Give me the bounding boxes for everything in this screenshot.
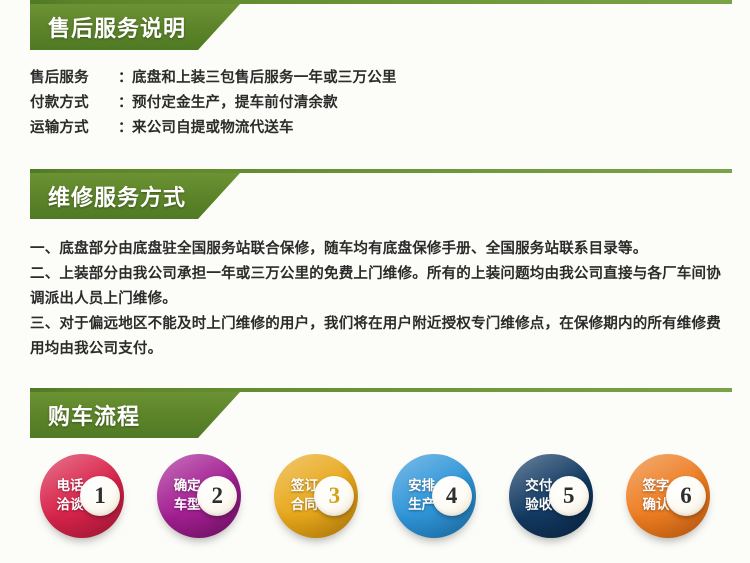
section-after-sales: 售后服务说明 售后服务 ： 底盘和上装三包售后服务一年或三万公里 付款方式 ： … [0,0,750,141]
section-repair-service: 维修服务方式 一、底盘部分由底盘驻全国服务站联合保修，随车均有底盘保修手册、全国… [0,169,750,362]
section-banner-2: 维修服务方式 [30,173,750,223]
info-row-separator: ： [118,116,132,141]
process-step-1[interactable]: 电话 洽谈 1 [40,454,124,538]
repair-service-body: 一、底盘部分由底盘驻全国服务站联合保修，随车均有底盘保修手册、全国服务站联系目录… [30,237,726,362]
section-title-1: 售后服务说明 [48,4,186,50]
repair-paragraph: 三、对于偏远地区不能及时上门维修的用户，我们将在用户附近授权专门维修点，在保修期… [30,312,726,362]
section-purchase-process: 购车流程 电话 洽谈 1 确定 车型 2 [0,388,750,538]
info-row-value: 底盘和上装三包售后服务一年或三万公里 [132,66,750,91]
process-step-3[interactable]: 签订 合同 3 [274,454,358,538]
section-title-2: 维修服务方式 [48,173,186,219]
info-row: 售后服务 ： 底盘和上装三包售后服务一年或三万公里 [30,66,750,91]
info-row-key: 付款方式 [30,91,118,116]
process-step-2[interactable]: 确定 车型 2 [157,454,241,538]
info-row-value: 来公司自提或物流代送车 [132,116,750,141]
info-row-key: 售后服务 [30,66,118,91]
section-banner-3: 购车流程 [30,392,750,442]
repair-paragraph: 一、底盘部分由底盘驻全国服务站联合保修，随车均有底盘保修手册、全国服务站联系目录… [30,237,726,262]
section-title-3: 购车流程 [48,392,140,438]
process-step-5[interactable]: 交付 验收 5 [509,454,593,538]
process-step-6[interactable]: 签字 确认 6 [626,454,710,538]
step-number-badge: 5 [549,476,589,516]
step-number-badge: 2 [197,476,237,516]
step-number-badge: 4 [432,476,472,516]
info-row-separator: ： [118,66,132,91]
process-step-list: 电话 洽谈 1 确定 车型 2 签订 合同 3 [0,454,750,538]
product-info-page: 售后服务说明 售后服务 ： 底盘和上装三包售后服务一年或三万公里 付款方式 ： … [0,0,750,563]
process-step-4[interactable]: 安排 生产 4 [392,454,476,538]
info-row-value: 预付定金生产，提车前付清余款 [132,91,750,116]
section-banner-1: 售后服务说明 [30,4,750,54]
info-row: 运输方式 ： 来公司自提或物流代送车 [30,116,750,141]
after-sales-body: 售后服务 ： 底盘和上装三包售后服务一年或三万公里 付款方式 ： 预付定金生产，… [30,66,750,141]
step-number-badge: 6 [666,476,706,516]
info-row-separator: ： [118,91,132,116]
repair-paragraph: 二、上装部分由我公司承担一年或三万公里的免费上门维修。所有的上装问题均由我公司直… [30,262,726,312]
info-row: 付款方式 ： 预付定金生产，提车前付清余款 [30,91,750,116]
info-row-key: 运输方式 [30,116,118,141]
step-number-badge: 1 [80,476,120,516]
